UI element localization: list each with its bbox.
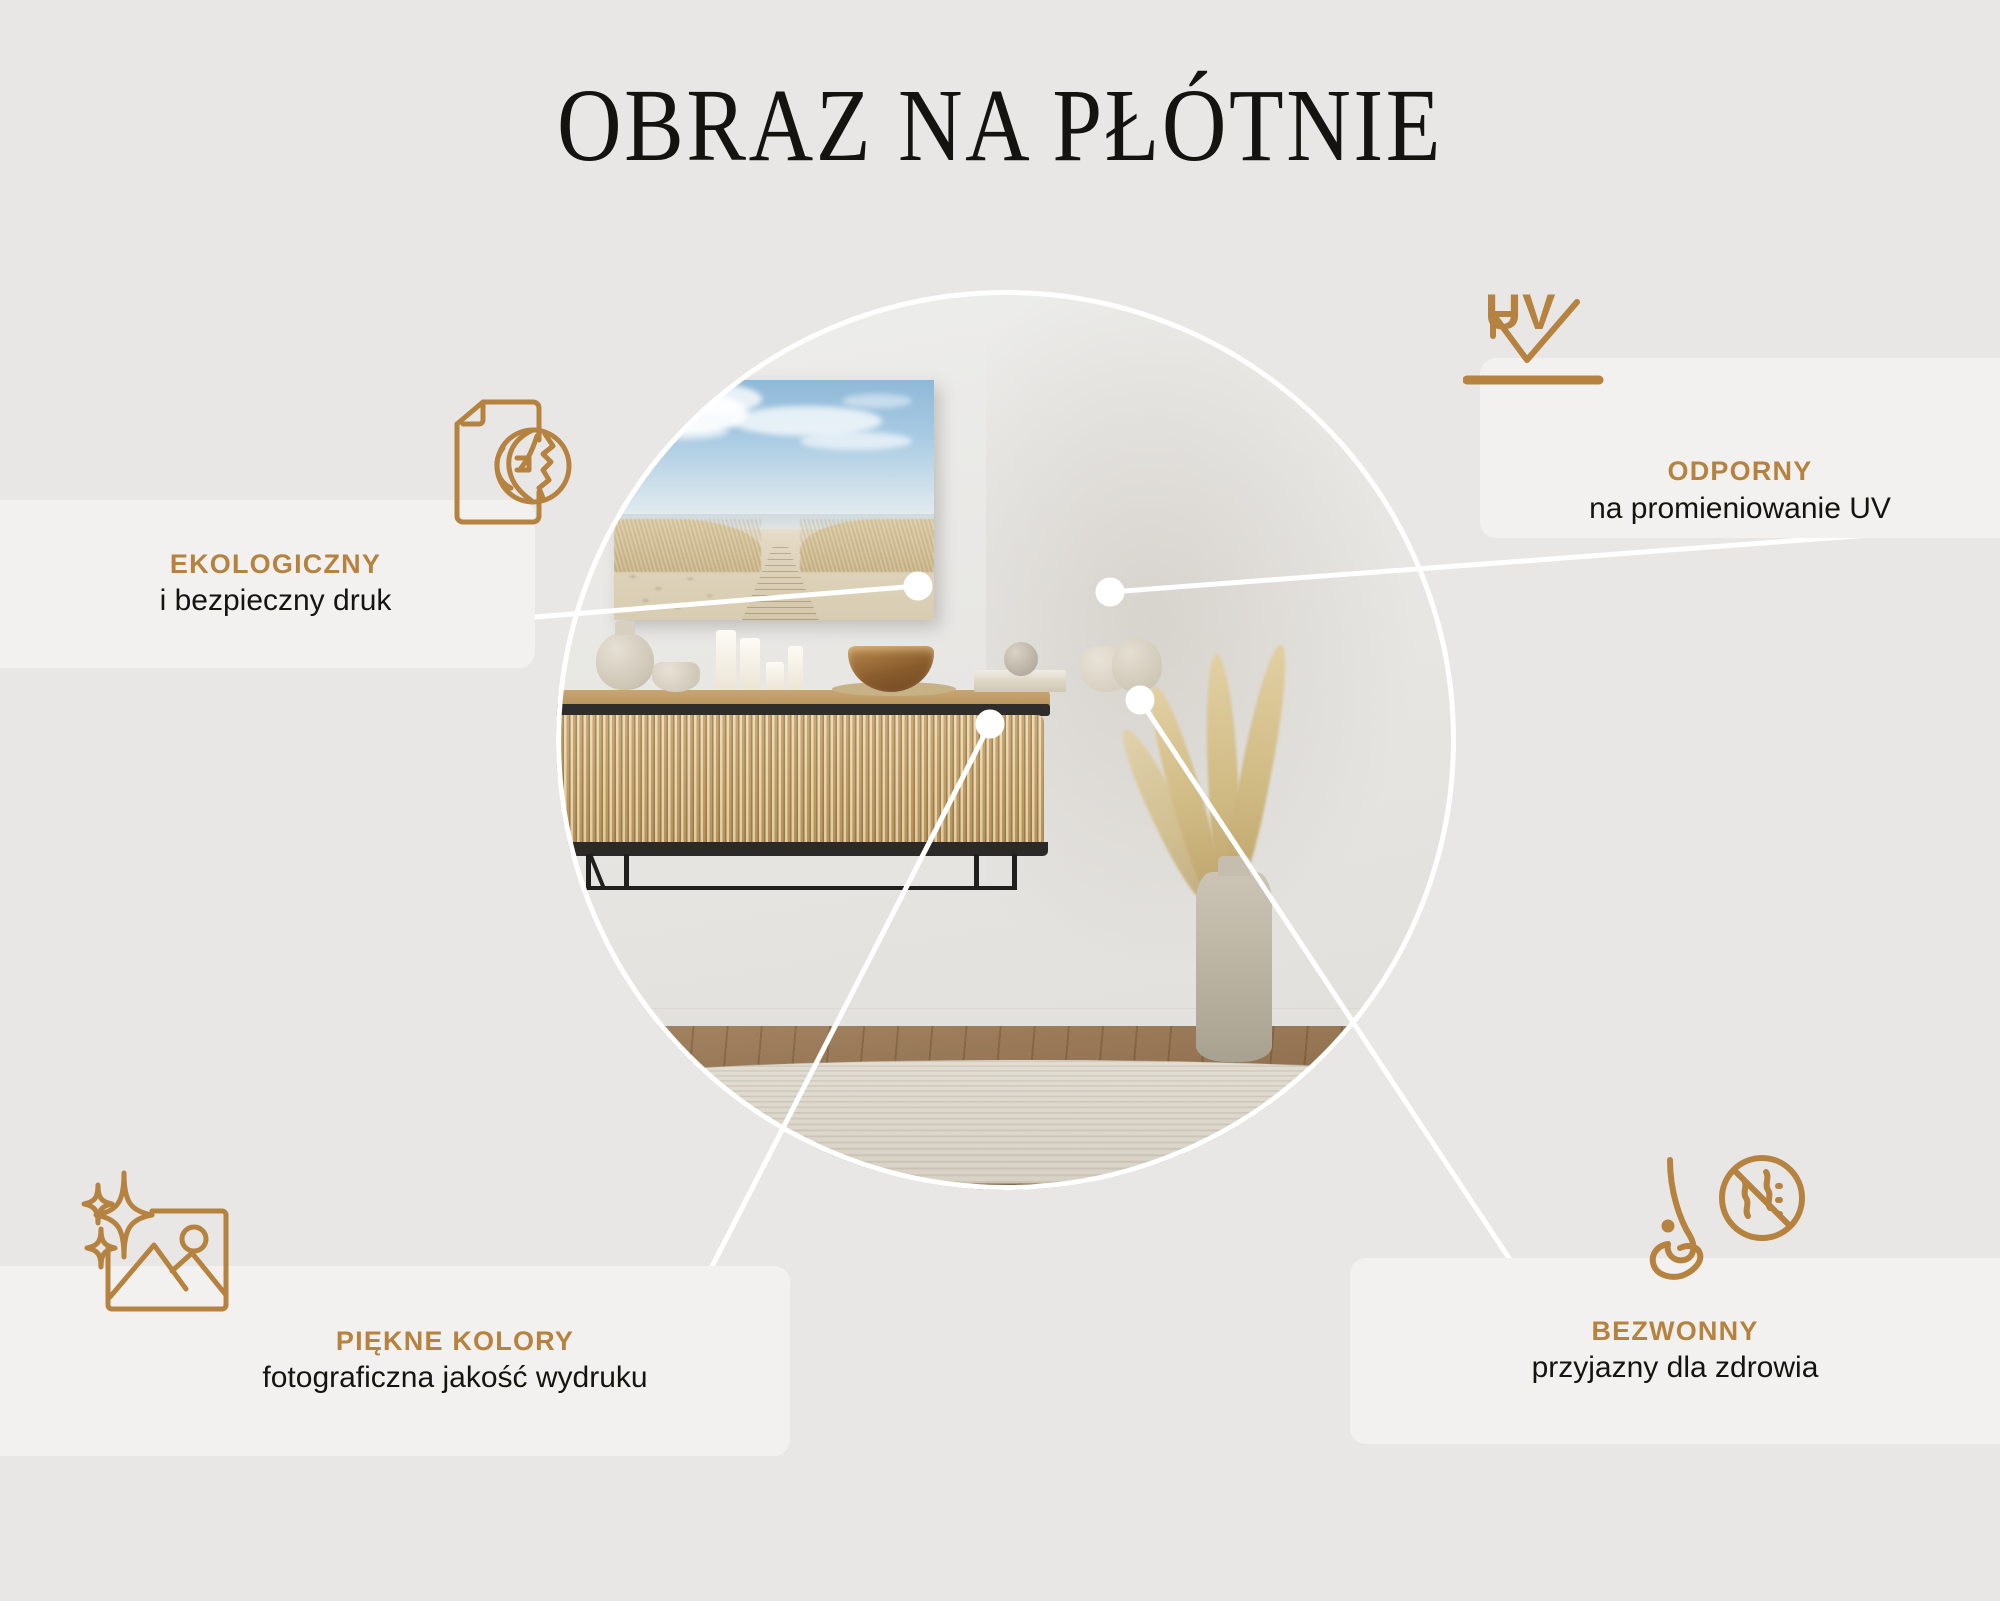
decor-candle — [788, 646, 803, 690]
sideboard-leg — [974, 854, 979, 890]
decor-candle — [766, 662, 784, 690]
scene-clip — [556, 290, 1456, 1190]
feature-caption: EKOLOGICZNY — [160, 548, 392, 582]
cloud-icon — [800, 432, 912, 450]
feature-caption: ODPORNY — [1589, 455, 1891, 489]
sideboard-furniture — [556, 690, 1050, 880]
feature-caption: PIĘKNE KOLORY — [262, 1325, 647, 1359]
cloud-icon — [842, 394, 912, 408]
area-rug — [556, 1060, 1456, 1183]
product-scene — [556, 290, 1456, 1190]
canvas-artwork — [614, 380, 934, 620]
feature-subtitle: na promieniowanie UV — [1589, 489, 1891, 528]
sideboard-leg-bar — [586, 886, 1016, 890]
nose-no-odor-icon — [1644, 1150, 1824, 1290]
feature-caption: BEZWONNY — [1532, 1315, 1819, 1349]
artwork-dune-left — [614, 519, 761, 572]
uv-text-label: UV — [1485, 283, 1556, 341]
decor-small-bowl — [652, 662, 700, 692]
decor-candle — [716, 630, 736, 690]
feature-subtitle: fotograficzna jakość wydruku — [262, 1358, 647, 1397]
feature-subtitle: przyjazny dla zdrowia — [1532, 1348, 1819, 1387]
artwork-dune-right — [800, 519, 934, 572]
cloud-icon — [638, 424, 728, 440]
eco-document-globe-icon — [425, 396, 585, 532]
feature-subtitle: i bezpieczny druk — [160, 581, 392, 620]
artwork-footprints — [620, 567, 748, 615]
page-title: OBRAZ NA PŁÓTNIE — [140, 70, 1860, 182]
sideboard-fluted-front — [556, 715, 1044, 847]
cloud-icon — [666, 384, 762, 414]
decor-round-vase — [596, 632, 654, 690]
baseboard — [556, 1008, 1456, 1026]
decor-candle — [740, 638, 760, 690]
photo-sparkle-icon — [80, 1167, 240, 1322]
decor-stone-ball — [1004, 642, 1038, 676]
sideboard-leg — [624, 854, 629, 890]
decor-ceramic-vase — [1112, 638, 1162, 692]
sideboard-leg — [1012, 854, 1017, 890]
tall-stone-vase — [1196, 872, 1272, 1062]
